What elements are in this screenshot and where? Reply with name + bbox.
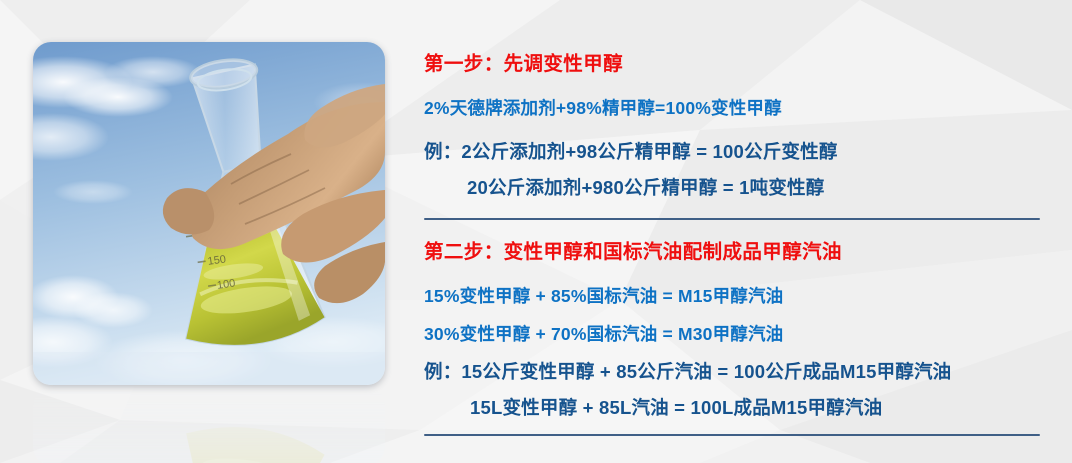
step2-formula-m15: 15%变性甲醇 + 85%国标汽油 = M15甲醇汽油 — [424, 286, 1044, 308]
step2-example-line-2: 15L变性甲醇 + 85L汽油 = 100L成品M15甲醇汽油 — [424, 396, 1044, 419]
step2-heading: 第二步：变性甲醇和国标汽油配制成品甲醇汽油 — [424, 240, 1044, 264]
svg-text:100: 100 — [216, 277, 236, 291]
svg-text:150: 150 — [207, 253, 227, 267]
step2-formula-m30: 30%变性甲醇 + 70%国标汽油 = M30甲醇汽油 — [424, 324, 1044, 346]
instructions-panel: 第一步：先调变性甲醇 2%天德牌添加剂+98%精甲醇=100%变性甲醇 例：2公… — [424, 52, 1044, 436]
reflection-illustration — [33, 387, 385, 463]
slide-root: 250 200 150 100 — [0, 0, 1072, 463]
step1-formula: 2%天德牌添加剂+98%精甲醇=100%变性甲醇 — [424, 98, 1044, 120]
flask-photo: 250 200 150 100 — [33, 42, 385, 385]
step2-example-line-1: 例：15公斤变性甲醇 + 85公斤汽油 = 100公斤成品M15甲醇汽油 — [424, 360, 1044, 383]
section-divider-bottom — [424, 434, 1040, 436]
flask-photo-reflection — [33, 387, 385, 463]
step1-example-line-2: 20公斤添加剂+980公斤精甲醇 = 1吨变性醇 — [424, 176, 1044, 199]
flask-photo-illustration: 250 200 150 100 — [33, 42, 385, 385]
step1-heading: 第一步：先调变性甲醇 — [424, 52, 1044, 76]
step1-example-line-1: 例：2公斤添加剂+98公斤精甲醇 = 100公斤变性醇 — [424, 140, 1044, 163]
flask-photo-block: 250 200 150 100 — [33, 42, 385, 385]
